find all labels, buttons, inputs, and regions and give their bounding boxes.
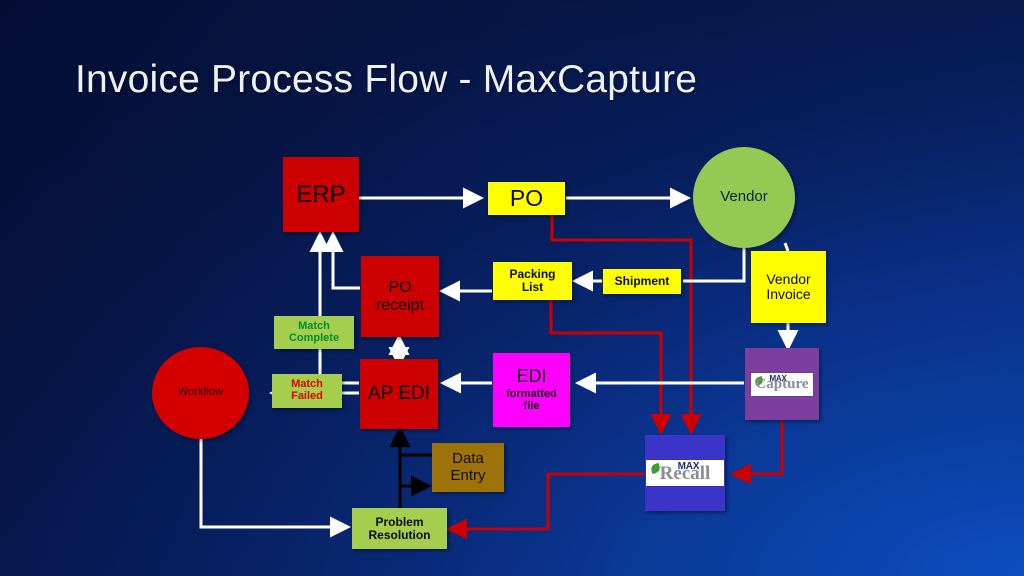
node-po-receipt-label-line1: PO — [388, 279, 411, 296]
node-match-failed[interactable]: Match Failed — [272, 374, 342, 408]
node-po-label: PO — [510, 186, 543, 211]
node-po-receipt[interactable]: PO receipt — [361, 256, 439, 337]
node-shipment-label: Shipment — [615, 275, 670, 288]
node-workflow[interactable]: Workflow — [152, 347, 249, 439]
node-data-entry-label-line2: Entry — [450, 468, 485, 484]
node-shipment[interactable]: Shipment — [603, 269, 681, 294]
node-workflow-label: Workflow — [178, 387, 223, 399]
maxcapture-logo: MAX Capture — [751, 373, 813, 396]
node-packing-list-label-line2: List — [522, 281, 543, 294]
node-erp-label: ERP — [296, 182, 345, 208]
edge-ap-edi-to-erp — [320, 234, 359, 383]
node-match-complete[interactable]: Match Complete — [274, 316, 354, 349]
node-problem-resolution-label-line2: Resolution — [369, 529, 431, 542]
node-po[interactable]: PO — [488, 182, 565, 215]
edge-po-to-maxrecall — [552, 215, 691, 432]
edge-maxcapture-to-maxrecall — [733, 420, 782, 474]
node-problem-resolution[interactable]: Problem Resolution — [352, 508, 447, 549]
node-ap-edi[interactable]: AP EDI — [360, 359, 438, 429]
page-title: Invoice Process Flow - MaxCapture — [75, 58, 697, 102]
maxrecall-logo: MAX Recall — [646, 460, 724, 486]
node-vendor-invoice[interactable]: Vendor Invoice — [751, 251, 826, 323]
maxcapture-logo-max: MAX — [769, 375, 786, 383]
node-po-receipt-label-line2: receipt — [376, 297, 424, 314]
edge-problem-resolution-to-data-entry — [400, 486, 429, 508]
node-match-failed-label-line2: Failed — [291, 391, 323, 403]
node-data-entry[interactable]: Data Entry — [432, 443, 504, 492]
edge-vendor-to-vendor-invoice — [785, 243, 788, 251]
node-maxrecall[interactable]: MAX Recall — [645, 435, 725, 511]
node-vendor-label: Vendor — [720, 189, 768, 205]
slide-canvas: Invoice Process Flow - MaxCapture — [0, 0, 1024, 576]
node-packing-list[interactable]: Packing List — [493, 262, 572, 300]
node-vendor-invoice-label-line1: Vendor — [766, 272, 810, 287]
node-edi-file[interactable]: EDI formatted file — [493, 353, 570, 427]
node-vendor[interactable]: Vendor — [693, 147, 795, 248]
maxrecall-logo-max: MAX — [678, 462, 700, 472]
node-erp[interactable]: ERP — [283, 157, 359, 232]
node-edi-file-label-line3: file — [524, 401, 540, 413]
node-problem-resolution-label-line1: Problem — [375, 516, 423, 529]
node-match-complete-label-line1: Match — [298, 321, 330, 333]
node-maxcapture[interactable]: MAX Capture — [745, 348, 819, 420]
node-match-complete-label-line2: Complete — [289, 333, 339, 345]
node-data-entry-label-line1: Data — [452, 451, 484, 467]
node-vendor-invoice-label-line2: Invoice — [766, 287, 810, 302]
edge-po-receipt-to-erp — [333, 234, 360, 288]
node-edi-file-label-line1: EDI — [516, 367, 546, 386]
edge-workflow-to-problem-resolution — [201, 437, 348, 527]
node-ap-edi-label: AP EDI — [368, 384, 430, 405]
